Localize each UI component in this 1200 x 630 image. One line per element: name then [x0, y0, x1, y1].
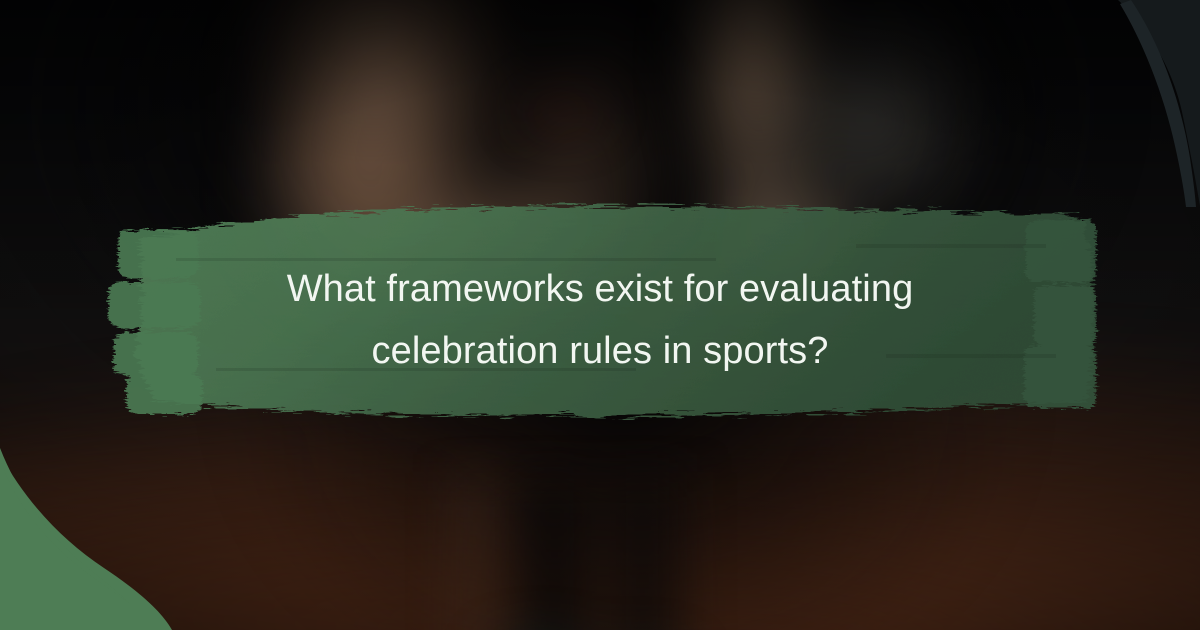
headline-line-1: What frameworks exist for evaluating — [150, 258, 1050, 320]
page-title: What frameworks exist for evaluating cel… — [150, 258, 1050, 382]
social-card: What frameworks exist for evaluating cel… — [0, 0, 1200, 630]
brush-streak-3 — [856, 244, 1046, 248]
headline-line-2: celebration rules in sports? — [150, 320, 1050, 382]
